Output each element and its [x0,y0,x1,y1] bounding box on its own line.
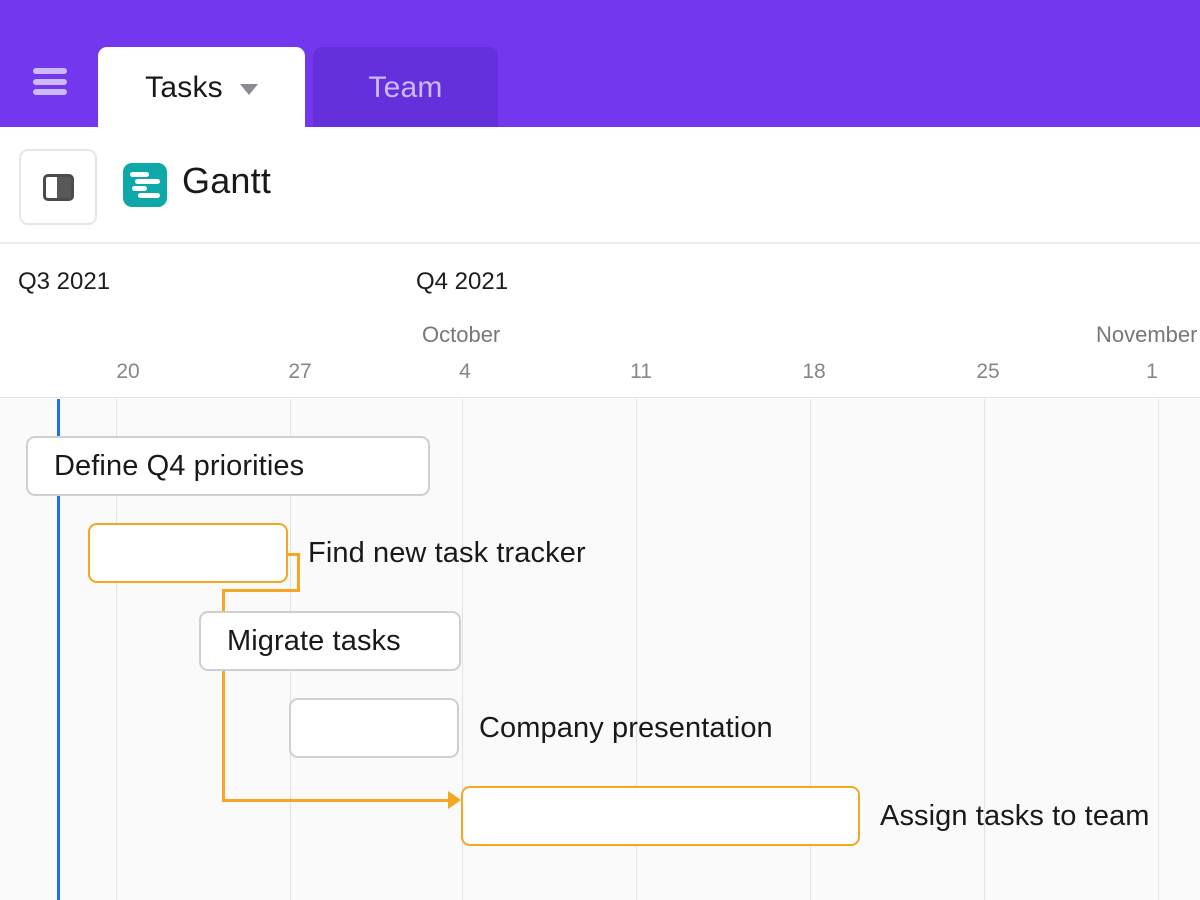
task-bar[interactable] [88,523,288,583]
chevron-down-icon[interactable] [240,84,258,95]
task-bar-label: Define Q4 priorities [28,450,304,483]
hamburger-bar [33,89,67,95]
gantt-icon [123,163,167,207]
dependency-link [222,799,450,802]
timeline-month-label: November [1096,322,1197,348]
task-bar-label: Assign tasks to team [880,786,1150,846]
timeline-quarter-label: Q4 2021 [416,268,508,296]
timeline-week-label: 18 [802,360,825,384]
timeline-week-label: 1 [1146,360,1158,384]
gantt-app: Tasks Team Gantt Q3 2021Q4 2021OctoberNo… [0,0,1200,900]
dependency-link [222,589,300,592]
gantt-icon-bar [138,193,160,198]
task-bar-label: Company presentation [479,698,773,758]
timeline-month-label: October [422,322,500,348]
task-bar[interactable]: Migrate tasks [199,611,461,671]
gantt-icon-bar [130,172,149,177]
hamburger-bar [33,68,67,74]
tab-tasks-label: Tasks [145,71,223,105]
timeline-week-label: 11 [630,360,652,384]
gantt-icon-bar [132,186,147,191]
task-bar[interactable] [289,698,459,758]
page-title: Gantt [182,160,271,202]
task-bar-label: Migrate tasks [201,625,401,658]
dependency-link [297,553,300,589]
timeline-week-label: 27 [288,360,311,384]
timeline-week-label: 25 [976,360,999,384]
sidebar-toggle-button[interactable] [19,149,97,225]
hamburger-bar [33,79,67,85]
timeline-week-label: 20 [116,360,139,384]
task-bar[interactable]: Define Q4 priorities [26,436,430,496]
gantt-chart-area[interactable]: Define Q4 prioritiesFind new task tracke… [0,399,1200,900]
timeline-quarter-label: Q3 2021 [18,268,110,296]
timeline-week-label: 4 [459,360,471,384]
grid-line [1158,399,1159,900]
task-bar[interactable] [461,786,860,846]
timeline-header [0,246,1200,398]
dependency-arrowhead [448,791,461,809]
hamburger-menu-icon[interactable] [33,68,67,95]
sidebar-panel-icon [43,174,74,201]
tab-team-label: Team [368,71,442,105]
tab-team[interactable]: Team [313,47,498,128]
view-toolbar [0,127,1200,244]
gantt-icon-bar [135,179,160,184]
tab-tasks[interactable]: Tasks [98,47,305,128]
top-navigation-bar: Tasks Team [0,0,1200,127]
task-bar-label: Find new task tracker [308,523,586,583]
